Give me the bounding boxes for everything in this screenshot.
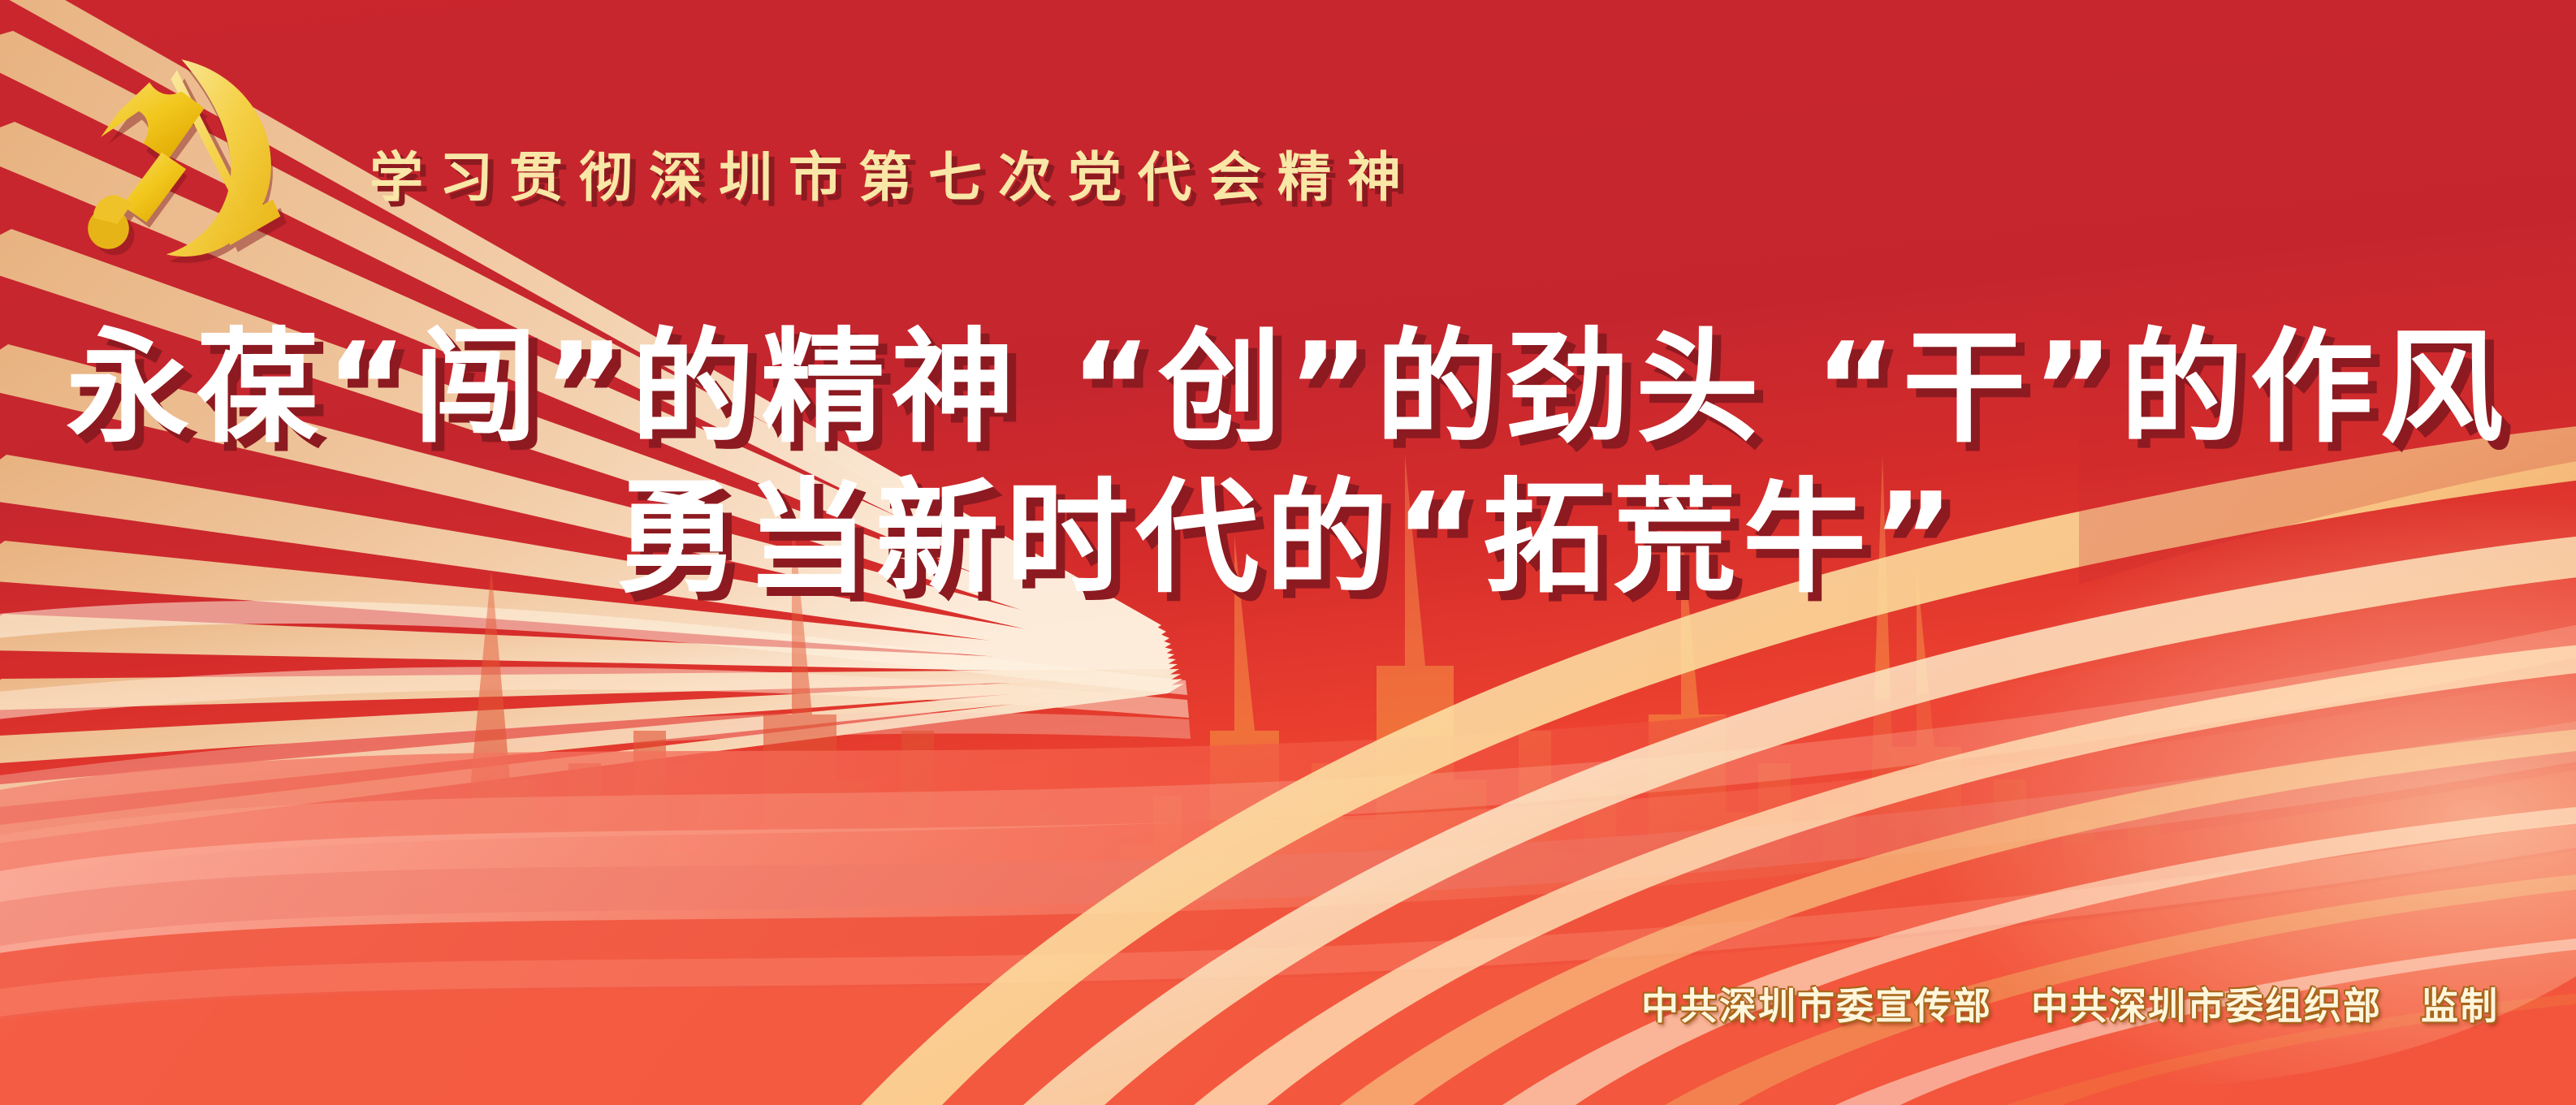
footer-credit: 中共深圳市委宣传部 中共深圳市委组织部 监制 — [1641, 977, 2499, 1030]
propaganda-banner: 学习贯彻深圳市第七次党代会精神 永葆“闯”的精神 “创”的劲头 “干”的作风 勇… — [0, 0, 2576, 1105]
header-slogan: 学习贯彻深圳市第七次党代会精神 — [370, 134, 1417, 212]
main-title-line-1: 永葆“闯”的精神 “创”的劲头 “干”的作风 — [0, 325, 2576, 451]
main-title-line-2: 勇当新时代的“拓荒牛” — [0, 473, 2576, 603]
main-title-block: 永葆“闯”的精神 “创”的劲头 “干”的作风 勇当新时代的“拓荒牛” — [0, 325, 2576, 603]
cpc-hammer-sickle-emblem — [50, 26, 300, 270]
